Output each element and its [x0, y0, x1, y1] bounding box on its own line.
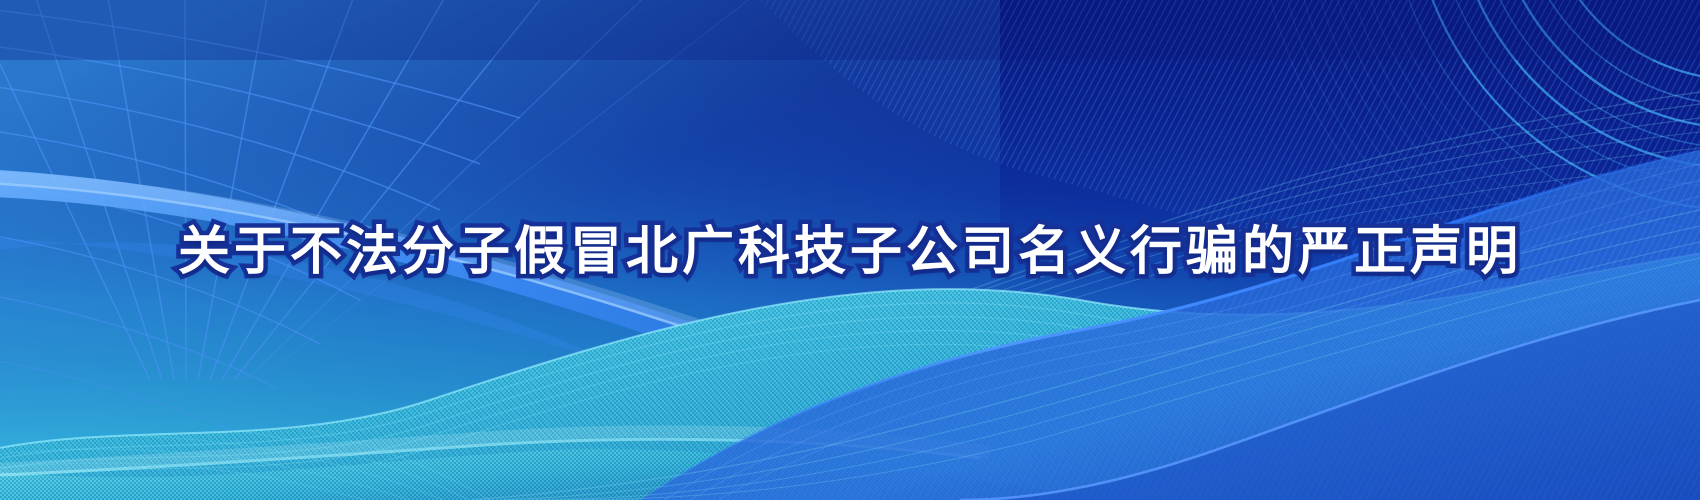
- top-edge-shade: [0, 0, 1700, 60]
- banner-root: 关于不法分子假冒北广科技子公司名义行骗的严正声明: [0, 0, 1700, 500]
- background-artwork: [0, 0, 1700, 500]
